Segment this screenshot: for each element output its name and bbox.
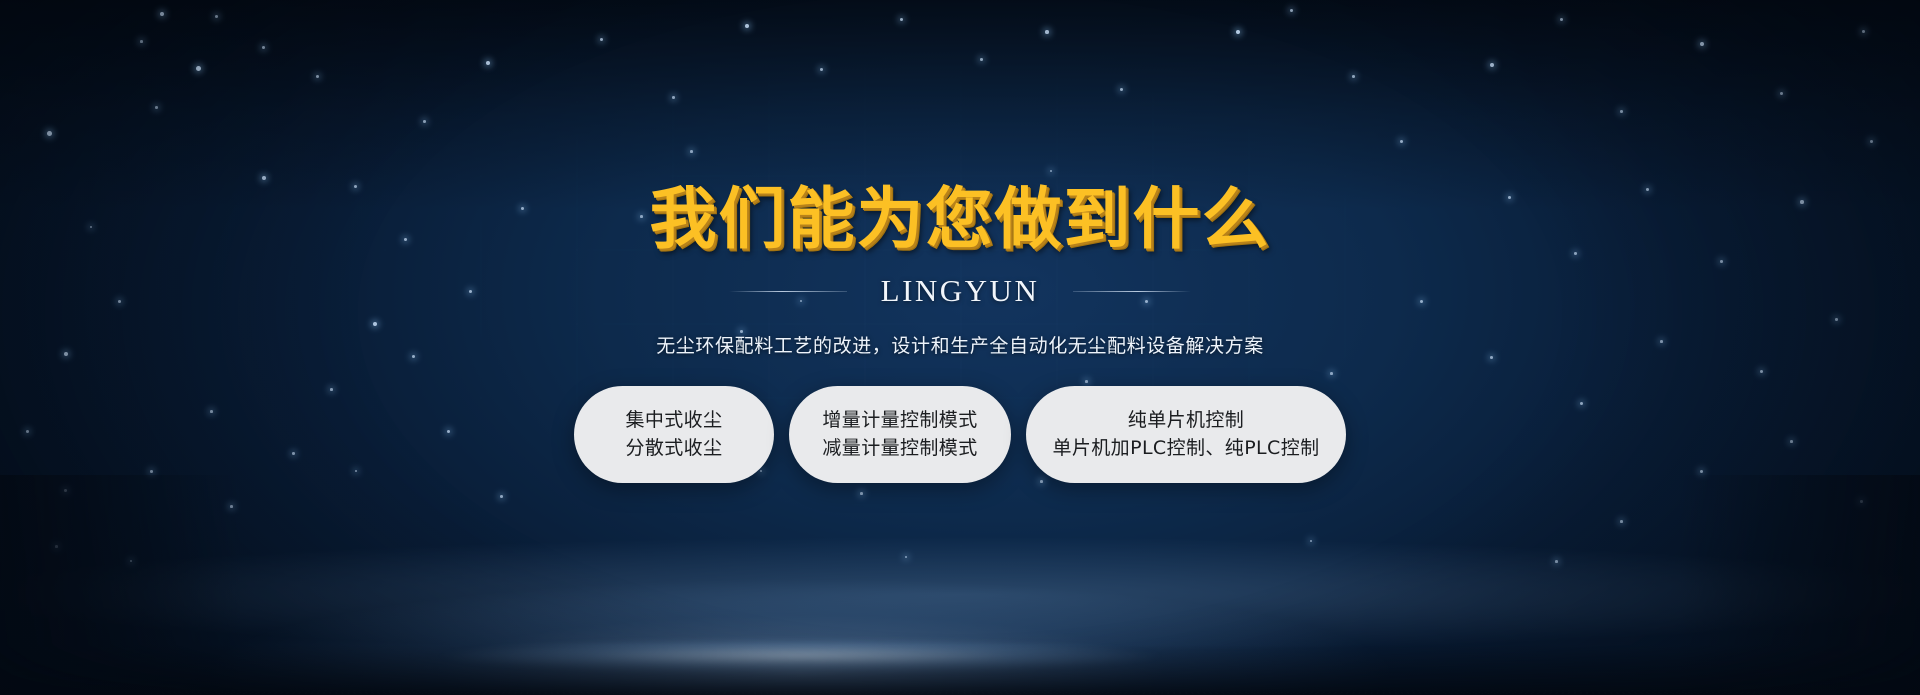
feature-card-line: 分散式收尘: [625, 439, 722, 458]
banner-content: 我们能为您做到什么 LINGYUN 无尘环保配料工艺的改进，设计和生产全自动化无…: [0, 0, 1920, 695]
feature-card-line: 集中式收尘: [625, 411, 722, 430]
banner-headline: 我们能为您做到什么: [650, 186, 1271, 253]
divider-line-right: [1073, 291, 1191, 292]
banner-stage: 我们能为您做到什么 LINGYUN 无尘环保配料工艺的改进，设计和生产全自动化无…: [0, 0, 1920, 695]
feature-card-line: 单片机加PLC控制、纯PLC控制: [1052, 439, 1319, 458]
feature-card-line: 减量计量控制模式: [822, 439, 977, 458]
feature-card[interactable]: 集中式收尘 分散式收尘: [574, 386, 774, 483]
feature-card[interactable]: 增量计量控制模式 减量计量控制模式: [789, 386, 1011, 483]
feature-card-list: 集中式收尘 分散式收尘 增量计量控制模式 减量计量控制模式 纯单片机控制 单片机…: [574, 386, 1346, 483]
banner-description: 无尘环保配料工艺的改进，设计和生产全自动化无尘配料设备解决方案: [656, 331, 1264, 358]
feature-card[interactable]: 纯单片机控制 单片机加PLC控制、纯PLC控制: [1026, 386, 1346, 483]
divider-line-left: [729, 291, 847, 292]
banner-subtitle-en: LINGYUN: [881, 273, 1040, 309]
feature-card-line: 纯单片机控制: [1128, 411, 1244, 430]
feature-card-line: 增量计量控制模式: [822, 411, 977, 430]
subtitle-row: LINGYUN: [729, 273, 1192, 309]
